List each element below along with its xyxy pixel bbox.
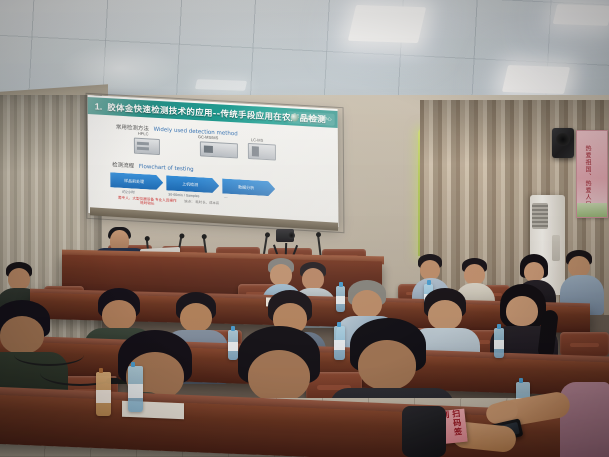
- bottle-label: [336, 296, 345, 304]
- ceiling-led-panel-2: [502, 65, 570, 94]
- bottle-label: [128, 384, 143, 398]
- bottle-label: [228, 342, 238, 351]
- water-bottle: [334, 326, 345, 360]
- person-head: [352, 290, 382, 318]
- slide-subtitle-1-en: Widely used detection method: [154, 127, 238, 138]
- bottle-label: [494, 340, 504, 349]
- conference-room-photo: 热爱祖国、热爱人民 1. 胶体金快速检测技术的应用--传统手段应用在农产品检测 …: [0, 0, 609, 457]
- equipment-image-hplc: [134, 138, 160, 155]
- slide-subtitle-2-cn: 检测流程: [112, 162, 134, 169]
- person-head: [568, 256, 590, 277]
- foreground-person-torso: [560, 382, 609, 457]
- video-camera-icon: [276, 229, 294, 242]
- person-head: [524, 262, 544, 282]
- person-head: [102, 300, 136, 330]
- ac-control-panel: [552, 235, 560, 261]
- equipment-image-gcmsms: [200, 141, 238, 158]
- flow-caption-2: 30-60min / Samples: [168, 192, 199, 198]
- water-bottle: [336, 286, 345, 312]
- slide-drawback-note: 缺点： 耗时长、成本高: [184, 199, 234, 206]
- flow-step-2: 上机检测: [166, 175, 219, 193]
- logo-text: 农科院检测中心: [300, 115, 332, 123]
- projection-screen: 1. 胶体金快速检测技术的应用--传统手段应用在农产品检测 农科院检测中心 常用…: [88, 95, 339, 227]
- presentation-slide: 1. 胶体金快速检测技术的应用--传统手段应用在农产品检测 农科院检测中心 常用…: [88, 95, 339, 227]
- slide-subtitle-2-en: Flowchart of testing: [139, 164, 194, 173]
- person-head: [302, 268, 324, 290]
- person-head: [358, 340, 416, 390]
- poster-text: 热爱祖国、热爱人民: [583, 145, 591, 208]
- organization-logo: 农科院检测中心: [287, 111, 335, 126]
- tea-bottle: [96, 372, 111, 416]
- chair-back: [560, 332, 609, 356]
- poster-footer-band: [577, 203, 607, 217]
- bottle-label: [96, 390, 111, 403]
- logo-mark-icon: [290, 113, 298, 121]
- equipment-label-1: HPLC: [138, 131, 149, 137]
- person-head: [8, 268, 30, 290]
- person-head: [180, 303, 212, 332]
- bottle-label: [334, 340, 345, 350]
- slide-subtitle-1: 常用检测方法 Widely used detection method: [116, 123, 238, 138]
- flow-caption-3: —: [224, 196, 228, 200]
- slide-number: 1.: [95, 101, 103, 111]
- water-bottle: [128, 366, 143, 412]
- person-head: [248, 350, 310, 402]
- flow-caption-1: 约2小时: [122, 190, 134, 196]
- person-head: [464, 264, 485, 285]
- person-head: [506, 296, 538, 326]
- person-head: [270, 264, 292, 286]
- flow-step-1: 样品前处理: [110, 172, 163, 190]
- equipment-label-2: GC-MS/MS: [198, 134, 218, 140]
- water-bottle: [228, 330, 238, 360]
- person-head: [428, 300, 462, 330]
- ceiling-led-panel-1: [348, 5, 426, 43]
- water-bottle: [494, 328, 504, 358]
- person-head: [420, 260, 440, 280]
- slide-subtitle-2: 检测流程 Flowchart of testing: [112, 160, 194, 173]
- foreground-bag: [402, 406, 446, 457]
- ceiling-led-panel-4: [195, 79, 247, 91]
- ac-vent-grille: [532, 203, 548, 229]
- equipment-label-3: LC-MS: [251, 137, 263, 143]
- wall-speaker-icon: [552, 128, 574, 158]
- slide-warning-note: 需专人、大型仪器设备 专业人员操作耗时较长: [116, 196, 178, 208]
- ceiling-led-panel-3: [553, 4, 609, 26]
- equipment-image-lcms: [248, 143, 276, 161]
- wall-poster: 热爱祖国、热爱人民: [576, 130, 608, 218]
- flow-step-3: 数据分析: [222, 179, 275, 197]
